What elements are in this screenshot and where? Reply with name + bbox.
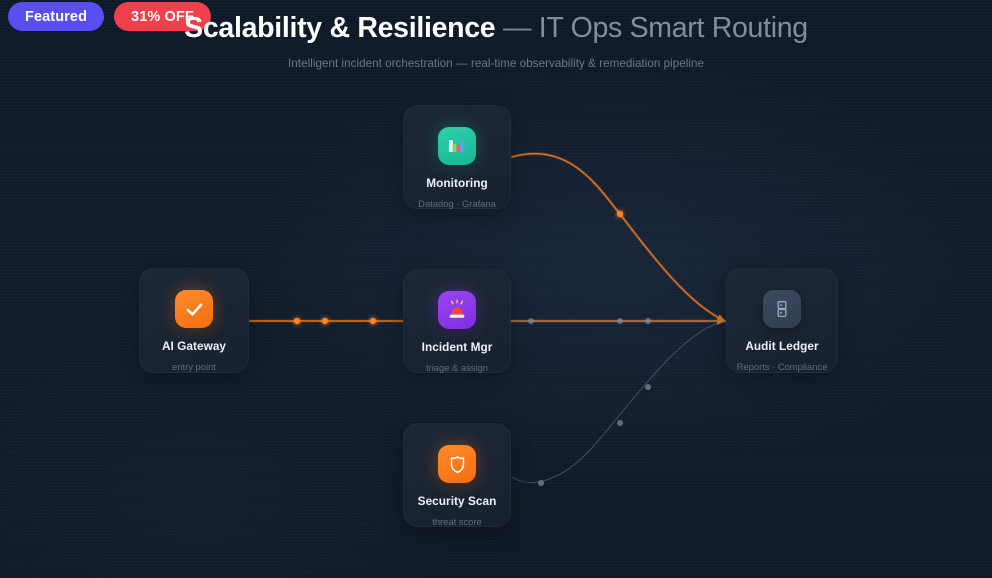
edge-incident-audit-flow-dot-1	[617, 318, 623, 324]
title-block: Scalability & Resilience — IT Ops Smart …	[0, 14, 992, 70]
shield-icon	[438, 445, 476, 483]
page-title: Scalability & Resilience — IT Ops Smart …	[0, 14, 992, 43]
header: Featured 31% OFF Scalability & Resilienc…	[0, 0, 992, 86]
edge-monitoring-audit-glow	[512, 154, 725, 321]
edge-incident-audit-flow-dot-2	[645, 318, 651, 324]
node-incident-mgr-label: Incident Mgr	[422, 340, 493, 354]
node-ai-gateway-label: AI Gateway	[162, 339, 226, 353]
edge-gateway-incident-flow-dot-0	[294, 318, 300, 324]
node-monitoring[interactable]: MonitoringDatadog · Grafana	[403, 105, 511, 209]
edge-security-audit-flow-dot-0	[538, 480, 544, 486]
check-icon	[175, 290, 213, 328]
edge-monitoring-audit-flow-dot-0	[617, 211, 623, 217]
edge-security-audit-flow-dot-2	[645, 384, 651, 390]
page-title-primary: Scalability & Resilience	[184, 12, 495, 44]
node-ai-gateway[interactable]: AI Gatewayentry point	[139, 268, 249, 373]
node-monitoring-sublabel: Datadog · Grafana	[418, 198, 496, 209]
node-ai-gateway-sublabel: entry point	[172, 361, 216, 372]
node-security-scan-sublabel: threat score	[432, 516, 482, 527]
page-title-secondary: IT Ops Smart Routing	[539, 12, 808, 44]
node-audit-ledger-sublabel: Reports · Compliance	[737, 361, 828, 372]
node-monitoring-label: Monitoring	[426, 176, 487, 190]
node-security-scan[interactable]: Security Scanthreat score	[403, 423, 511, 527]
edge-security-audit-flow-dot-1	[617, 420, 623, 426]
edge-incident-audit-flow-dot-0	[528, 318, 534, 324]
node-incident-mgr[interactable]: Incident Mgrtriage & assign	[403, 269, 511, 373]
server-icon	[763, 290, 801, 328]
edge-gateway-incident-flow-dot-1	[322, 318, 328, 324]
edge-monitoring-audit[interactable]	[512, 154, 725, 321]
node-audit-ledger[interactable]: Audit LedgerReports · Compliance	[726, 268, 838, 373]
siren-icon	[438, 291, 476, 329]
page-subtitle: Intelligent incident orchestration — rea…	[0, 57, 992, 70]
node-security-scan-label: Security Scan	[418, 494, 497, 508]
edge-security-audit[interactable]	[512, 321, 725, 483]
node-incident-mgr-sublabel: triage & assign	[426, 362, 488, 373]
node-audit-ledger-label: Audit Ledger	[745, 339, 818, 353]
page-title-separator: —	[495, 12, 538, 44]
bar-chart-icon	[438, 127, 476, 165]
edge-gateway-incident-flow-dot-2	[370, 318, 376, 324]
